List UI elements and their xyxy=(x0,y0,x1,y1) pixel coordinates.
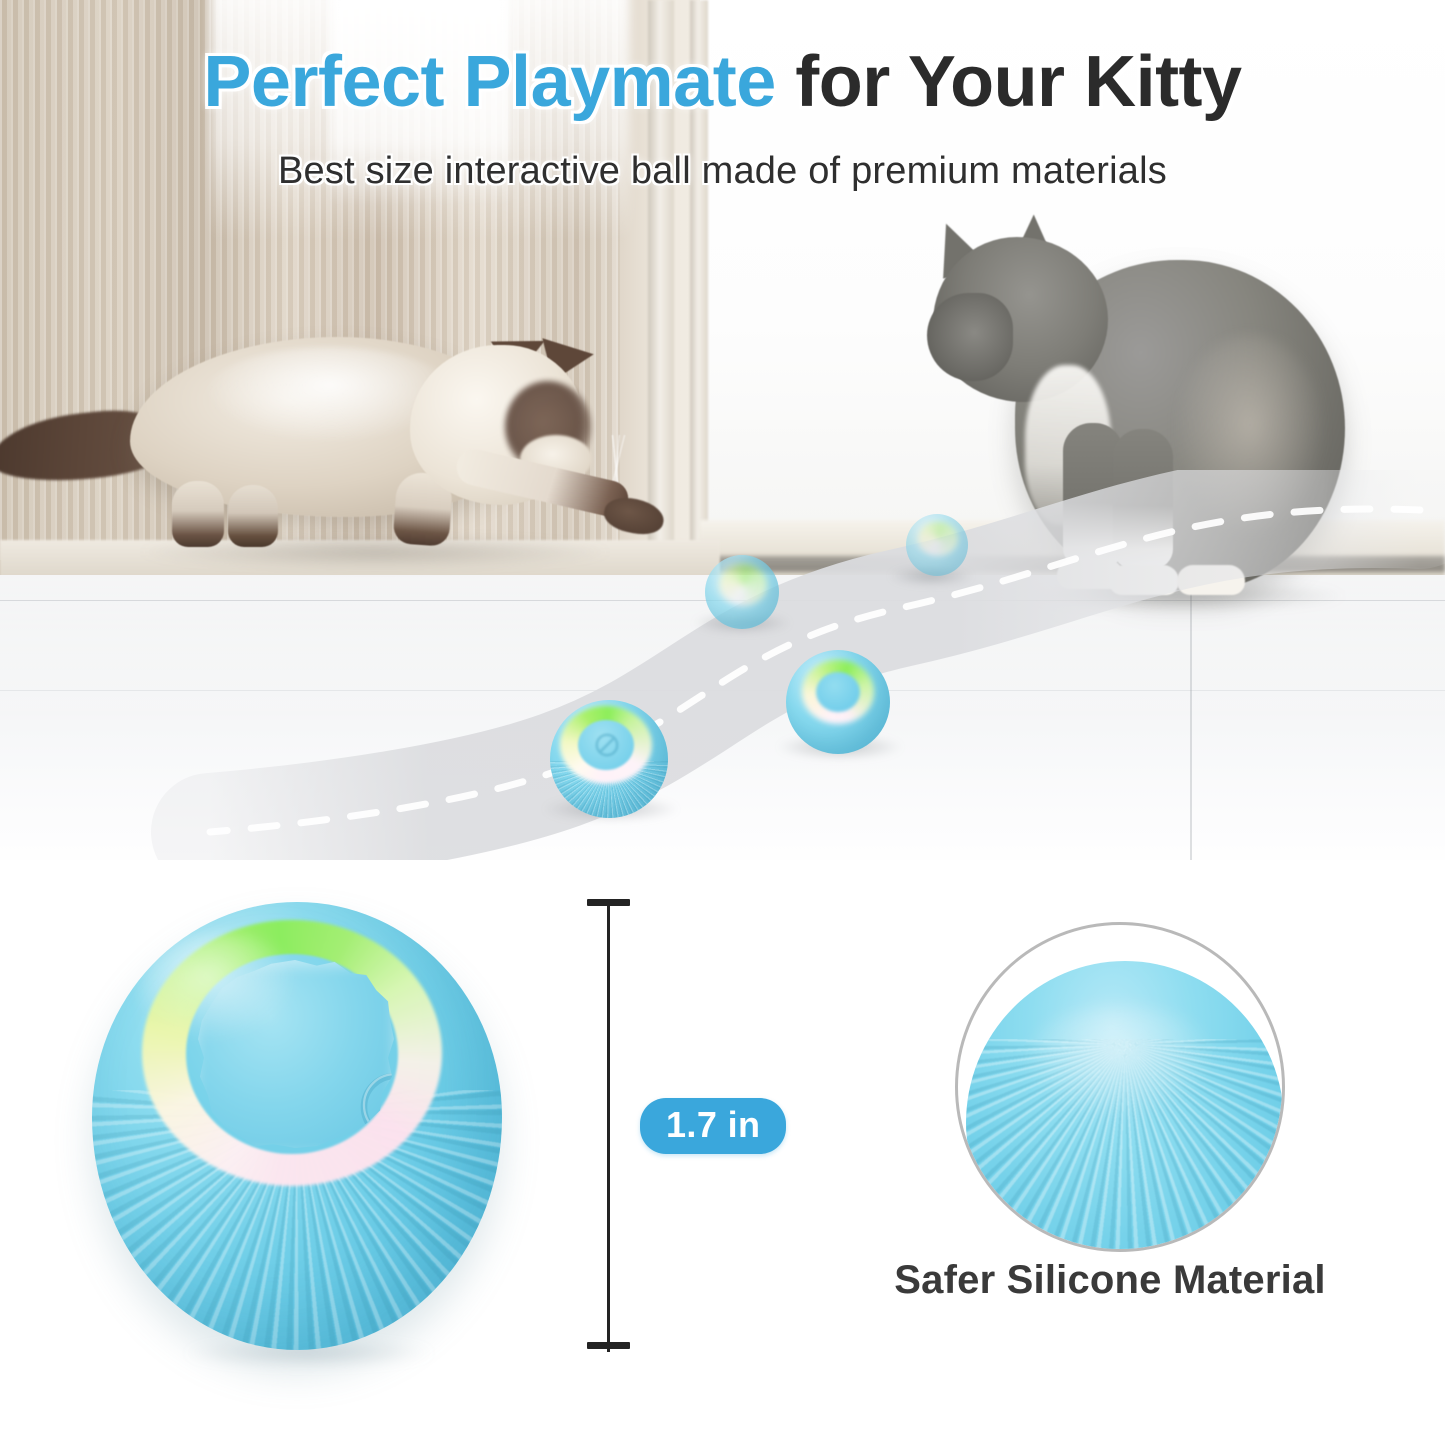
center-button xyxy=(816,672,860,712)
headline-highlight: Perfect Playmate xyxy=(203,42,775,122)
led-ring xyxy=(918,522,958,556)
power-icon xyxy=(592,730,622,760)
led-ring xyxy=(719,564,767,606)
center-button xyxy=(578,720,634,770)
dimension-stem xyxy=(607,902,610,1352)
ball-body xyxy=(92,902,502,1350)
headline-rest: for Your Kitty xyxy=(776,42,1242,122)
page-subheadline: Best size interactive ball made of premi… xyxy=(0,150,1445,193)
silicone-surface-closeup xyxy=(966,961,1284,1252)
page-headline: Perfect Playmate for Your Kitty xyxy=(0,46,1445,118)
cat-face xyxy=(927,293,1013,381)
dimension-cap-bottom xyxy=(587,1342,630,1349)
rolling-ball-mid xyxy=(705,555,779,629)
product-hero-ball xyxy=(78,888,518,1358)
lifestyle-photo-scene: Perfect Playmate for Your Kitty Best siz… xyxy=(0,0,1445,880)
specular-highlight xyxy=(138,932,298,1042)
material-closeup-circle xyxy=(955,922,1285,1252)
s-curve-motion-path xyxy=(0,470,1445,870)
dimension-badge: 1.7 in xyxy=(640,1098,786,1154)
surface-gloss-highlight xyxy=(1026,1005,1216,1115)
rolling-ball-near xyxy=(786,650,890,754)
rolling-ball-front xyxy=(550,700,668,818)
rolling-ball-far xyxy=(906,514,968,576)
material-caption: Safer Silicone Material xyxy=(830,1258,1390,1303)
product-marketing-image: Perfect Playmate for Your Kitty Best siz… xyxy=(0,0,1445,1445)
